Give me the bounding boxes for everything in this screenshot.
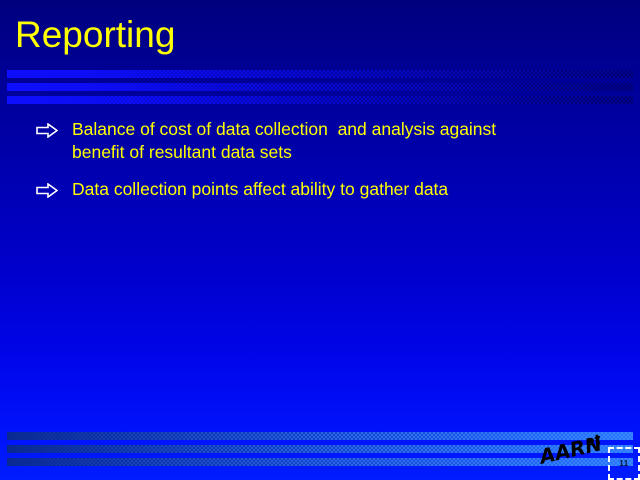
page-number-placeholder: 11: [608, 447, 640, 480]
header-bar-3: [7, 96, 633, 104]
bullet-list: Balance of cost of data collection and a…: [36, 118, 628, 215]
list-item: Data collection points affect ability to…: [36, 178, 628, 201]
hollow-right-arrow-icon: [36, 118, 72, 138]
slide-title: Reporting: [15, 13, 175, 57]
page-number: 11: [619, 460, 628, 468]
header-bar-2: [7, 83, 633, 91]
presentation-slide: Reporting Balance of cost of data collec…: [0, 0, 640, 480]
list-item-text: Data collection points affect ability to…: [72, 178, 628, 201]
list-item-text: Balance of cost of data collection and a…: [72, 118, 628, 164]
list-item: Balance of cost of data collection and a…: [36, 118, 628, 164]
aarnet-logo: AARN et: [537, 429, 613, 465]
header-bar-1: [7, 70, 633, 78]
header-decoration-bars: [7, 70, 633, 104]
hollow-right-arrow-icon: [36, 178, 72, 198]
